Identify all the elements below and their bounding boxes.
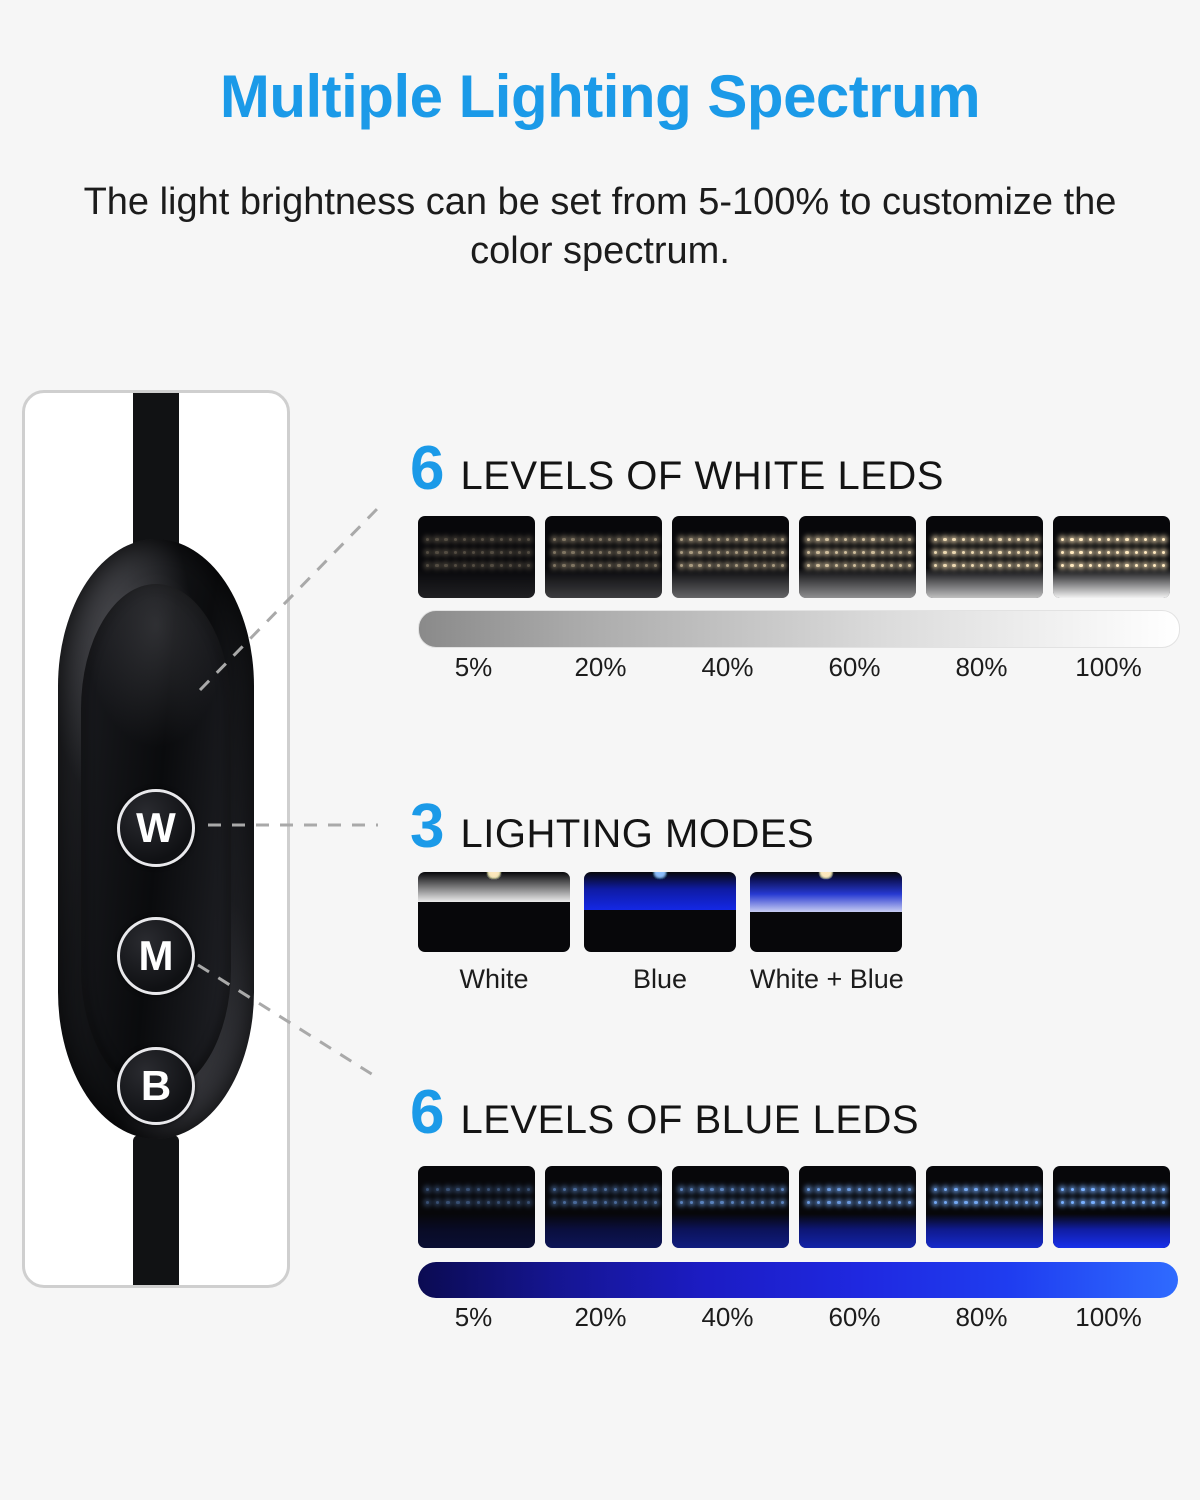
blue-levels-heading: 6 LEVELS OF BLUE LEDS [410, 1082, 919, 1144]
mode-item-blue: Blue [584, 872, 736, 995]
device-photo: W M B [22, 390, 290, 1288]
cable-bottom [133, 1135, 179, 1285]
lighting-modes-row: White Blue White + Blue [418, 872, 902, 995]
mode-swatch-white-blue [750, 872, 902, 952]
tick-label: 60% [791, 1302, 918, 1333]
blue-tick-labels: 5%20%40%60%80%100% [410, 1302, 1186, 1333]
led-glow [1053, 1214, 1170, 1248]
blue-led-swatch [545, 1166, 662, 1248]
tick-label: 80% [918, 652, 1045, 683]
blue-led-swatch [926, 1166, 1043, 1248]
blue-led-swatch [799, 1166, 916, 1248]
white-levels-label: LEVELS OF WHITE LEDS [460, 456, 943, 496]
blue-led-swatch-row [418, 1166, 1170, 1248]
tick-label: 100% [1045, 1302, 1172, 1333]
led-glow [672, 1214, 789, 1248]
mode-swatch-blue [584, 872, 736, 952]
mode-button[interactable]: M [117, 917, 195, 995]
led-dots [418, 538, 535, 572]
led-glow [799, 1214, 916, 1248]
led-glow [926, 1214, 1043, 1248]
inline-controller: W M B [58, 539, 254, 1139]
tick-label: 100% [1045, 652, 1172, 683]
led-dots [926, 538, 1043, 572]
tick-label: 20% [537, 652, 664, 683]
led-glow [1053, 568, 1170, 598]
tick-label: 5% [410, 652, 537, 683]
blue-led-swatch [418, 1166, 535, 1248]
led-glow [418, 1214, 535, 1248]
led-glow [418, 872, 570, 902]
page-subtitle: The light brightness can be set from 5-1… [60, 178, 1140, 275]
tick-label: 40% [664, 652, 791, 683]
blue-button[interactable]: B [117, 1047, 195, 1125]
blue-led-swatch [672, 1166, 789, 1248]
blue-levels-label: LEVELS OF BLUE LEDS [460, 1100, 919, 1140]
lighting-modes-number: 3 [410, 796, 444, 858]
led-glow [584, 872, 736, 910]
white-tick-labels: 5%20%40%60%80%100% [410, 652, 1186, 683]
led-glow [799, 568, 916, 598]
tick-label: 80% [918, 1302, 1045, 1333]
led-dots [799, 538, 916, 572]
tick-label: 40% [664, 1302, 791, 1333]
mode-swatch-white [418, 872, 570, 952]
lighting-modes-label: LIGHTING MODES [460, 814, 814, 854]
white-led-swatch [418, 516, 535, 598]
white-led-swatch [926, 516, 1043, 598]
blue-levels-number: 6 [410, 1082, 444, 1144]
infographic-page: Multiple Lighting Spectrum The light bri… [0, 0, 1200, 1500]
white-levels-number: 6 [410, 438, 444, 500]
led-dots [1053, 538, 1170, 572]
white-led-swatch-row [418, 516, 1170, 598]
white-brightness-gradient [418, 610, 1180, 648]
tick-label: 5% [410, 1302, 537, 1333]
blue-brightness-gradient [418, 1262, 1178, 1298]
led-glow [672, 568, 789, 598]
led-glow [545, 1214, 662, 1248]
led-glow [926, 568, 1043, 598]
mode-caption-white-blue: White + Blue [750, 964, 902, 995]
mode-item-white-blue: White + Blue [750, 872, 902, 995]
led-dots [545, 538, 662, 572]
white-levels-heading: 6 LEVELS OF WHITE LEDS [410, 438, 944, 500]
led-glow [418, 568, 535, 598]
blue-led-swatch [1053, 1166, 1170, 1248]
led-glow [545, 568, 662, 598]
white-led-swatch [799, 516, 916, 598]
tick-label: 20% [537, 1302, 664, 1333]
mode-caption-white: White [418, 964, 570, 995]
mode-item-white: White [418, 872, 570, 995]
tick-label: 60% [791, 652, 918, 683]
white-led-swatch [1053, 516, 1170, 598]
led-dots [672, 538, 789, 572]
lighting-modes-heading: 3 LIGHTING MODES [410, 796, 814, 858]
led-glow [750, 872, 902, 912]
white-led-swatch [672, 516, 789, 598]
cable-top [133, 393, 179, 563]
white-button[interactable]: W [117, 789, 195, 867]
white-led-swatch [545, 516, 662, 598]
page-title: Multiple Lighting Spectrum [0, 62, 1200, 131]
mode-caption-blue: Blue [584, 964, 736, 995]
